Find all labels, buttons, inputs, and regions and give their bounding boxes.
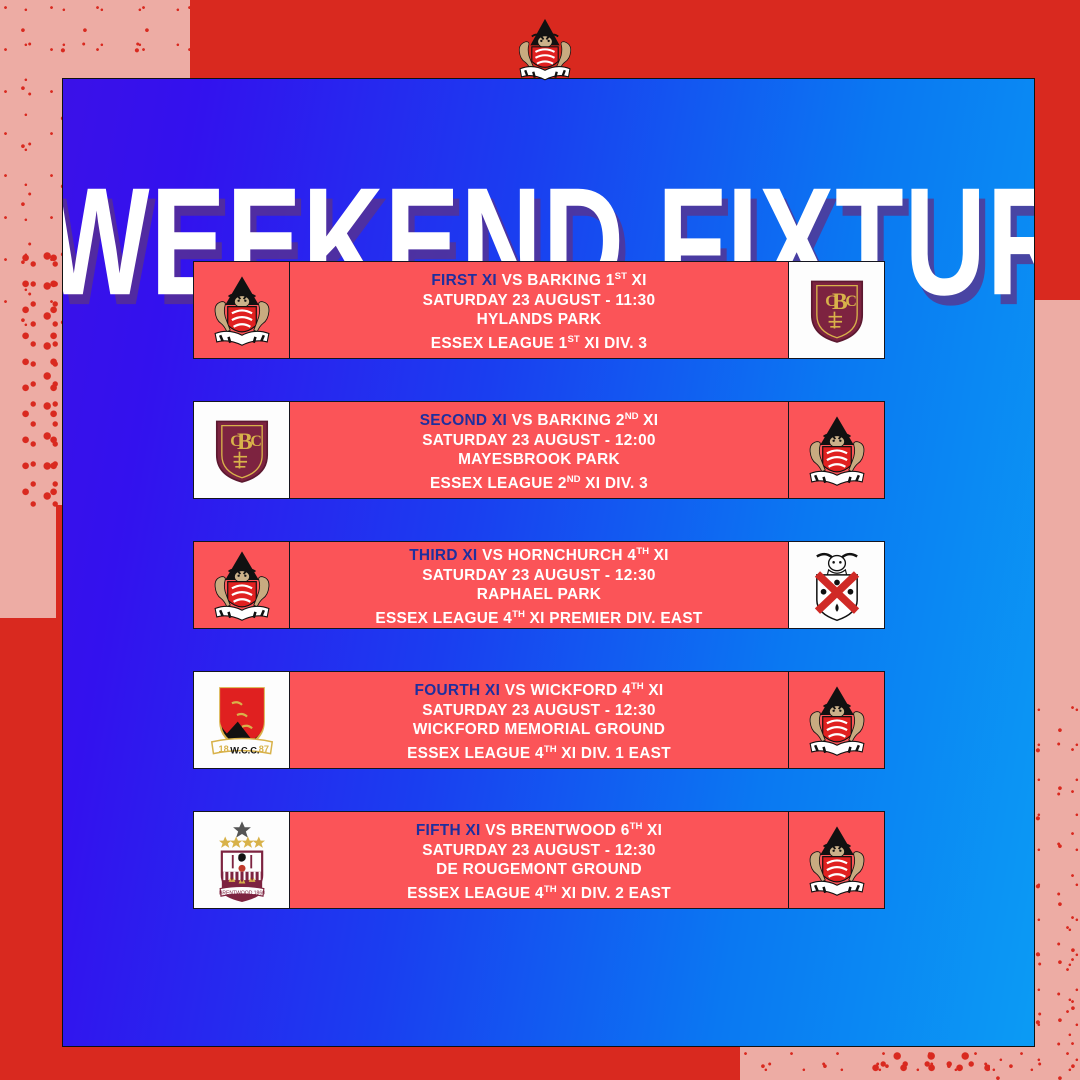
fixture-competition-ordinal: TH [512,609,525,620]
fixture-datetime: SATURDAY 23 AUGUST - 11:30 [423,291,656,311]
brentwood-cc-crest-glyph: BRENTWOOD 1860 [200,818,284,902]
fixture-competition-prefix: ESSEX LEAGUE 4 [407,745,544,762]
fixture-competition-tail: XI PREMIER DIV. EAST [530,610,703,627]
fixture-competition-ordinal: ND [567,474,581,485]
fixture-details: THIRD XI VS HORNCHURCH 4TH XI SATURDAY 2… [290,541,788,629]
fixture-headline: FIFTH XI VS BRENTWOOD 6TH XI [416,817,662,841]
fixture-competition-tail: XI DIV. 3 [584,335,647,352]
chelmsford-club-crest-glyph [795,408,879,492]
fixture-competition-tail: XI DIV. 1 EAST [561,745,671,762]
chelmsford-club-crest-glyph [505,16,585,82]
fixture-venue: MAYESBROOK PARK [458,450,620,470]
chelmsford-club-crest-glyph [795,818,879,902]
fixture-headline: FIRST XI VS BARKING 1ST XI [431,267,646,291]
fixture-venue: HYLANDS PARK [477,310,602,330]
fixture-datetime: SATURDAY 23 AUGUST - 12:30 [422,566,656,586]
fixture-competition: ESSEX LEAGUE 2ND XI DIV. 3 [430,470,648,494]
fixture-competition-tail: XI DIV. 3 [585,475,648,492]
svg-text:18: 18 [218,744,228,754]
fixture-headline: SECOND XI VS BARKING 2ND XI [420,407,659,431]
fixture-opponent-prefix: VS HORNCHURCH 4 [482,547,636,564]
brentwood-cc-crest-icon: BRENTWOOD 1860 [193,811,290,909]
barking-cbc-crest-icon: C B C [193,401,290,499]
wickford-cc-crest-glyph: 18 W.C.C. 87 [200,678,284,762]
svg-text:C: C [250,433,262,450]
fixture-row[interactable]: C B C SECOND XI VS BARKING 2ND XI SATURD… [193,401,885,499]
fixture-opponent-tail: XI [648,682,663,699]
fixture-details: FOURTH XI VS WICKFORD 4TH XI SATURDAY 23… [290,671,788,769]
page-title: WEEKEND FIXTURES [62,165,1035,273]
barking-cbc-crest-glyph: C B C [200,408,284,492]
chelmsford-club-crest-icon [193,541,290,629]
fixture-headline: FOURTH XI VS WICKFORD 4TH XI [415,677,664,701]
chelmsford-club-crest-icon [505,16,585,82]
fixture-details: FIFTH XI VS BRENTWOOD 6TH XI SATURDAY 23… [290,811,788,909]
wickford-cc-crest-icon: 18 W.C.C. 87 [193,671,290,769]
barking-cbc-crest-glyph: C B C [795,268,879,352]
fixture-list: FIRST XI VS BARKING 1ST XI SATURDAY 23 A… [193,261,885,951]
fixture-team: FOURTH XI [415,682,501,699]
fixture-opponent-ordinal: ND [625,411,639,422]
fixture-row[interactable]: 18 W.C.C. 87 FOURTH XI VS WICKFORD 4TH X… [193,671,885,769]
hornchurch-crest-glyph [795,543,879,627]
main-panel: WEEKEND FIXTURES FIRST XI [62,78,1035,1047]
fixture-competition-ordinal: TH [544,884,557,895]
hornchurch-crest-icon [788,541,885,629]
svg-text:C: C [845,293,857,310]
chelmsford-club-crest-icon [788,811,885,909]
fixture-opponent-tail: XI [647,822,662,839]
fixture-row[interactable]: BRENTWOOD 1860 FIFTH XI VS BRENTWOOD 6TH… [193,811,885,909]
fixture-venue: WICKFORD MEMORIAL GROUND [413,720,665,740]
fixture-opponent-ordinal: TH [636,546,649,557]
fixture-row[interactable]: THIRD XI VS HORNCHURCH 4TH XI SATURDAY 2… [193,541,885,629]
fixture-venue: RAPHAEL PARK [477,585,601,605]
fixture-competition-tail: XI DIV. 2 EAST [561,885,671,902]
chelmsford-club-crest-glyph [795,678,879,762]
fixture-opponent-tail: XI [654,547,669,564]
fixture-details: FIRST XI VS BARKING 1ST XI SATURDAY 23 A… [290,261,788,359]
fixture-opponent-ordinal: TH [631,681,644,692]
fixture-datetime: SATURDAY 23 AUGUST - 12:30 [422,841,656,861]
fixture-opponent-tail: XI [643,412,658,429]
fixture-competition-prefix: ESSEX LEAGUE 1 [431,335,568,352]
fixture-headline: THIRD XI VS HORNCHURCH 4TH XI [409,542,669,566]
fixture-competition: ESSEX LEAGUE 4TH XI PREMIER DIV. EAST [375,605,702,629]
chelmsford-club-crest-icon [788,401,885,499]
chelmsford-club-crest-icon [788,671,885,769]
fixture-opponent-prefix: VS BRENTWOOD 6 [485,822,629,839]
fixture-datetime: SATURDAY 23 AUGUST - 12:00 [422,431,656,451]
fixture-competition-prefix: ESSEX LEAGUE 4 [375,610,512,627]
fixture-opponent-prefix: VS BARKING 1 [502,272,615,289]
svg-text:87: 87 [258,744,268,754]
svg-text:W.C.C.: W.C.C. [230,746,259,756]
fixture-competition-ordinal: TH [544,744,557,755]
chelmsford-club-crest-icon [193,261,290,359]
fixture-opponent-tail: XI [632,272,647,289]
fixture-team: FIRST XI [431,272,497,289]
fixture-team: FIFTH XI [416,822,481,839]
barking-cbc-crest-icon: C B C [788,261,885,359]
fixture-team: SECOND XI [420,412,507,429]
svg-text:BRENTWOOD 1860: BRENTWOOD 1860 [219,890,265,896]
fixture-datetime: SATURDAY 23 AUGUST - 12:30 [422,701,656,721]
fixture-team: THIRD XI [409,547,477,564]
fixture-competition: ESSEX LEAGUE 1ST XI DIV. 3 [431,330,648,354]
fixture-venue: DE ROUGEMONT GROUND [436,860,642,880]
fixture-details: SECOND XI VS BARKING 2ND XI SATURDAY 23 … [290,401,788,499]
fixture-opponent-ordinal: ST [615,271,627,282]
fixture-competition-ordinal: ST [568,334,580,345]
fixture-opponent-prefix: VS BARKING 2 [512,412,625,429]
chelmsford-club-crest-glyph [200,543,284,627]
fixture-opponent-ordinal: TH [630,821,643,832]
chelmsford-club-crest-glyph [200,268,284,352]
fixture-competition-prefix: ESSEX LEAGUE 2 [430,475,567,492]
fixture-competition-prefix: ESSEX LEAGUE 4 [407,885,544,902]
fixture-competition: ESSEX LEAGUE 4TH XI DIV. 1 EAST [407,740,671,764]
grunge-texture-left-low [0,498,56,618]
fixture-competition: ESSEX LEAGUE 4TH XI DIV. 2 EAST [407,880,671,904]
fixture-opponent-prefix: VS WICKFORD 4 [505,682,631,699]
fixture-row[interactable]: FIRST XI VS BARKING 1ST XI SATURDAY 23 A… [193,261,885,359]
